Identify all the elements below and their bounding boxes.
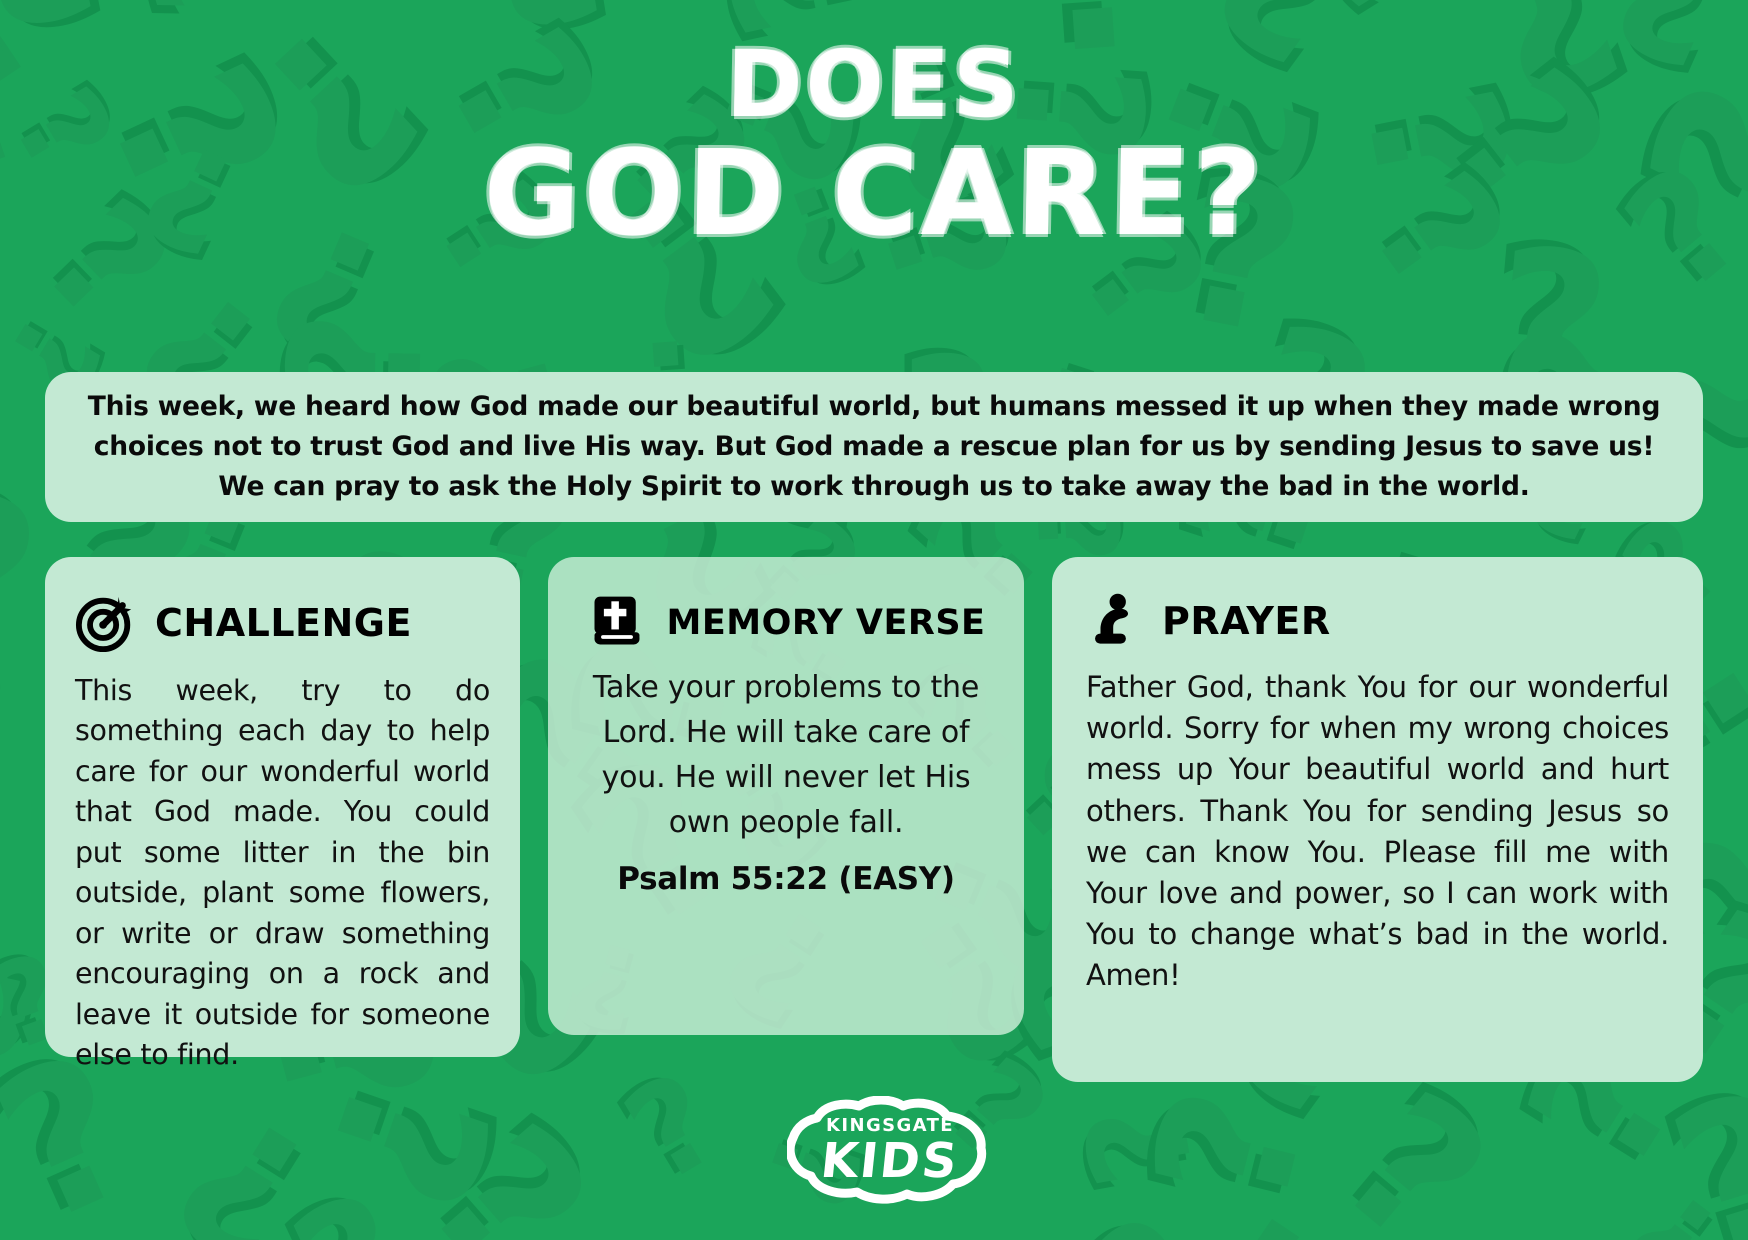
question-mark-glyph: ?: [1457, 1219, 1586, 1240]
memory-verse-card-title: MEMORY VERSE: [667, 605, 986, 641]
prayer-card-header: PRAYER: [1086, 591, 1669, 653]
memory-verse-card: MEMORY VERSE Take your problems to the L…: [548, 557, 1024, 1035]
page-title: DOES GOD CARE?: [0, 40, 1748, 252]
question-mark-glyph: ?: [1643, 1060, 1748, 1240]
question-mark-glyph: ?: [426, 1221, 573, 1240]
question-mark-glyph: ?: [1741, 263, 1748, 524]
question-mark-glyph: ?: [1611, 1173, 1742, 1240]
question-mark-glyph: ?: [1153, 1180, 1346, 1240]
prayer-card-body: Father God, thank You for our wonderful …: [1086, 667, 1669, 996]
praying-person-icon: [1086, 591, 1144, 653]
question-mark-glyph: ?: [1725, 803, 1748, 967]
question-mark-glyph: ?: [264, 1166, 424, 1240]
memory-verse-card-header: MEMORY VERSE: [578, 591, 994, 655]
memory-verse-text: Take your problems to the Lord. He will …: [578, 665, 994, 845]
challenge-card: CHALLENGE This week, try to do something…: [45, 557, 520, 1057]
question-mark-glyph: ?: [1120, 1081, 1327, 1231]
question-mark-glyph: ?: [0, 623, 36, 820]
question-mark-glyph: ?: [904, 1213, 1074, 1240]
question-mark-glyph: ?: [156, 1090, 342, 1240]
question-mark-glyph: ?: [1717, 897, 1748, 1115]
question-mark-glyph: ?: [1063, 1100, 1212, 1202]
question-mark-glyph: ?: [642, 1230, 734, 1240]
question-mark-glyph: ?: [1295, 1228, 1458, 1240]
question-mark-glyph: ?: [854, 0, 987, 12]
challenge-card-header: CHALLENGE: [75, 591, 490, 657]
intro-summary-text: This week, we heard how God made our bea…: [85, 387, 1663, 508]
challenge-card-title: CHALLENGE: [155, 604, 412, 644]
challenge-card-body: This week, try to do something each day …: [75, 671, 490, 1076]
question-mark-glyph: ?: [0, 458, 41, 686]
logo-kids-word: KIDS: [819, 1137, 962, 1185]
question-mark-glyph: ?: [600, 1053, 731, 1203]
question-mark-glyph: ?: [1298, 0, 1480, 36]
prayer-card-title: PRAYER: [1162, 602, 1331, 642]
title-line-god-care: GOD CARE?: [0, 136, 1748, 252]
intro-summary-panel: This week, we heard how God made our bea…: [45, 372, 1703, 522]
question-mark-glyph: ?: [127, 0, 308, 28]
bible-cross-icon: [587, 591, 647, 655]
poster-canvas: ????????????????????????????????????????…: [0, 0, 1748, 1240]
title-line-does: DOES: [0, 40, 1748, 130]
question-mark-glyph: ?: [13, 1205, 231, 1240]
question-mark-glyph: ?: [1740, 659, 1748, 797]
logo-text-group: KINGSGATE KIDS: [770, 1090, 1010, 1210]
question-mark-glyph: ?: [394, 1085, 617, 1240]
kingsgate-kids-logo: KINGSGATE KIDS: [770, 1090, 1010, 1210]
target-arrow-icon: [75, 591, 137, 657]
prayer-card: PRAYER Father God, thank You for our won…: [1052, 557, 1703, 1082]
question-mark-glyph: ?: [0, 788, 6, 1008]
question-mark-glyph: ?: [1039, 1189, 1261, 1240]
memory-verse-reference: Psalm 55:22 (EASY): [578, 861, 994, 897]
